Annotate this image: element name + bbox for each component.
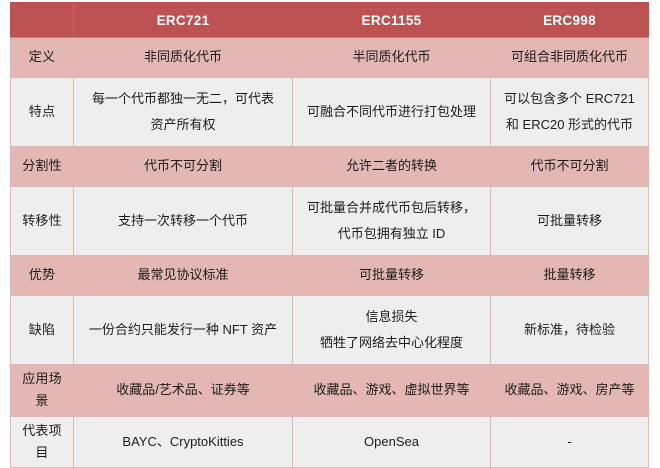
cell-erc721: 代币不可分割 xyxy=(74,147,293,187)
cell-erc721: 最常见协议标准 xyxy=(74,256,293,296)
row-label-cell: 应用场景 xyxy=(11,365,74,417)
table-row: 特点每一个代币都独一无二，可代表资产所有权可融合不同代币进行打包处理可以包含多个… xyxy=(11,78,649,147)
table-row: 分割性代币不可分割允许二者的转换代币不可分割 xyxy=(11,147,649,187)
cell-erc1155: OpenSea xyxy=(293,416,491,468)
row-label-cell: 代表项目 xyxy=(11,416,74,468)
cell-erc721: BAYC、CryptoKitties xyxy=(74,416,293,468)
table-row: 缺陷一份合约只能发行一种 NFT 资产信息损失牺牲了网络去中心化程度新标准，待检… xyxy=(11,296,649,365)
cell-erc721: 每一个代币都独一无二，可代表资产所有权 xyxy=(74,78,293,147)
cell-erc721: 支持一次转移一个代币 xyxy=(74,187,293,256)
cell-erc1155: 可批量转移 xyxy=(293,256,491,296)
cell-text-line: 可批量合并成代币包后转移， xyxy=(299,197,484,219)
cell-erc998: 可批量转移 xyxy=(491,187,649,256)
cell-erc998: 代币不可分割 xyxy=(491,147,649,187)
row-label-cell: 缺陷 xyxy=(11,296,74,365)
cell-text-line: 每一个代币都独一无二，可代表 xyxy=(80,88,286,110)
cell-text-line: 可批量转移 xyxy=(299,264,484,286)
cell-erc1155: 允许二者的转换 xyxy=(293,147,491,187)
cell-text-line: 和 ERC20 形式的代币 xyxy=(497,114,642,136)
row-label-cell: 定义 xyxy=(11,38,74,78)
table-row: 代表项目BAYC、CryptoKittiesOpenSea- xyxy=(11,416,649,468)
cell-text-line: 收藏品、游戏、虚拟世界等 xyxy=(299,379,484,401)
column-header-erc721: ERC721 xyxy=(74,3,293,38)
cell-text-line: 可组合非同质化代币 xyxy=(497,46,642,68)
cell-erc998: 收藏品、游戏、房产等 xyxy=(491,365,649,417)
cell-erc998: 可组合非同质化代币 xyxy=(491,38,649,78)
cell-text-line: 信息损失 xyxy=(299,306,484,328)
cell-erc998: 批量转移 xyxy=(491,256,649,296)
cell-text-line: 资产所有权 xyxy=(80,114,286,136)
cell-erc1155: 信息损失牺牲了网络去中心化程度 xyxy=(293,296,491,365)
cell-text-line: - xyxy=(497,431,642,453)
cell-erc1155: 可融合不同代币进行打包处理 xyxy=(293,78,491,147)
cell-text-line: 新标准，待检验 xyxy=(497,319,642,341)
cell-text-line: 半同质化代币 xyxy=(299,46,484,68)
cell-erc721: 收藏品/艺术品、证券等 xyxy=(74,365,293,417)
cell-erc1155: 半同质化代币 xyxy=(293,38,491,78)
column-header-erc998: ERC998 xyxy=(491,3,649,38)
table-body: 定义非同质化代币半同质化代币可组合非同质化代币特点每一个代币都独一无二，可代表资… xyxy=(11,38,649,468)
cell-text-line: 最常见协议标准 xyxy=(80,264,286,286)
cell-erc721: 非同质化代币 xyxy=(74,38,293,78)
table-header-row: ERC721 ERC1155 ERC998 xyxy=(11,3,649,38)
cell-text-line: 可融合不同代币进行打包处理 xyxy=(299,101,484,123)
cell-text-line: 收藏品/艺术品、证券等 xyxy=(80,379,286,401)
cell-text-line: 批量转移 xyxy=(497,264,642,286)
erc-comparison-table: ERC721 ERC1155 ERC998 定义非同质化代币半同质化代币可组合非… xyxy=(10,2,649,468)
row-label-cell: 优势 xyxy=(11,256,74,296)
cell-text-line: 代币包拥有独立 ID xyxy=(299,223,484,245)
cell-text-line: BAYC、CryptoKitties xyxy=(80,431,286,453)
row-label-cell: 转移性 xyxy=(11,187,74,256)
row-label-cell: 特点 xyxy=(11,78,74,147)
cell-text-line: 可批量转移 xyxy=(497,210,642,232)
cell-text-line: 代币不可分割 xyxy=(80,155,286,177)
table-row: 优势最常见协议标准可批量转移批量转移 xyxy=(11,256,649,296)
table-row: 定义非同质化代币半同质化代币可组合非同质化代币 xyxy=(11,38,649,78)
table-row: 转移性支持一次转移一个代币可批量合并成代币包后转移，代币包拥有独立 ID可批量转… xyxy=(11,187,649,256)
cell-erc1155: 收藏品、游戏、虚拟世界等 xyxy=(293,365,491,417)
cell-text-line: 一份合约只能发行一种 NFT 资产 xyxy=(80,319,286,341)
cell-text-line: 非同质化代币 xyxy=(80,46,286,68)
cell-text-line: OpenSea xyxy=(299,431,484,453)
cell-erc998: 新标准，待检验 xyxy=(491,296,649,365)
column-header-label xyxy=(11,3,74,38)
cell-text-line: 代币不可分割 xyxy=(497,155,642,177)
cell-text-line: 允许二者的转换 xyxy=(299,155,484,177)
cell-text-line: 牺牲了网络去中心化程度 xyxy=(299,332,484,354)
cell-text-line: 支持一次转移一个代币 xyxy=(80,210,286,232)
table-header: ERC721 ERC1155 ERC998 xyxy=(11,3,649,38)
cell-text-line: 可以包含多个 ERC721 xyxy=(497,88,642,110)
row-label-cell: 分割性 xyxy=(11,147,74,187)
column-header-erc1155: ERC1155 xyxy=(293,3,491,38)
cell-erc1155: 可批量合并成代币包后转移，代币包拥有独立 ID xyxy=(293,187,491,256)
cell-text-line: 收藏品、游戏、房产等 xyxy=(497,379,642,401)
table-row: 应用场景收藏品/艺术品、证券等收藏品、游戏、虚拟世界等收藏品、游戏、房产等 xyxy=(11,365,649,417)
page-root: ERC721 ERC1155 ERC998 定义非同质化代币半同质化代币可组合非… xyxy=(0,0,660,456)
cell-erc998: - xyxy=(491,416,649,468)
cell-erc721: 一份合约只能发行一种 NFT 资产 xyxy=(74,296,293,365)
cell-erc998: 可以包含多个 ERC721和 ERC20 形式的代币 xyxy=(491,78,649,147)
